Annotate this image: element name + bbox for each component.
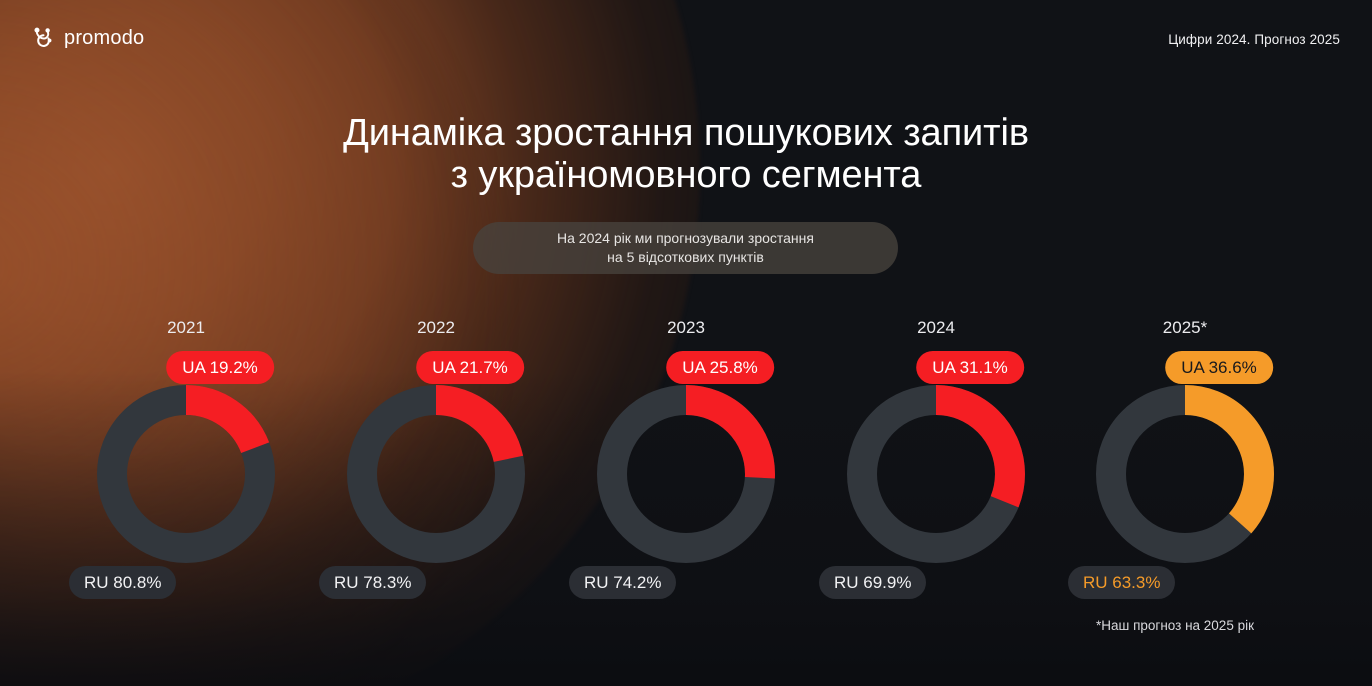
- promodo-mark-icon: [32, 26, 55, 49]
- donut-chart-1: 2021UA 19.2%RU 80.8%: [61, 318, 311, 618]
- ua-share-pill: UA 36.6%: [1165, 351, 1273, 384]
- ua-share-pill: UA 21.7%: [416, 351, 524, 384]
- donut-chart-row: 2021UA 19.2%RU 80.8%2022UA 21.7%RU 78.3%…: [0, 318, 1372, 618]
- donut-ring: [847, 385, 1025, 563]
- page-title: Динаміка зростання пошукових запитів з у…: [0, 112, 1372, 196]
- donut-chart-4: 2024UA 31.1%RU 69.9%: [811, 318, 1061, 618]
- slide-kicker: Цифри 2024. Прогноз 2025: [1168, 32, 1340, 47]
- subtitle-pill: На 2024 рік ми прогнозували зростання на…: [473, 222, 898, 274]
- donut-year-label: 2024: [811, 318, 1061, 338]
- ru-share-pill: RU 63.3%: [1068, 566, 1175, 599]
- donut-ring: [1096, 385, 1274, 563]
- donut-year-label: 2021: [61, 318, 311, 338]
- slide-canvas: promodo Цифри 2024. Прогноз 2025 Динамік…: [0, 0, 1372, 686]
- forecast-footnote: *Наш прогноз на 2025 рік: [1096, 618, 1254, 633]
- subtitle-line-2: на 5 відсоткових пунктів: [557, 248, 814, 267]
- donut-chart-5: 2025*UA 36.6%RU 63.3%: [1060, 318, 1310, 618]
- slide-header: promodo Цифри 2024. Прогноз 2025: [0, 0, 1372, 78]
- subtitle-text: На 2024 рік ми прогнозували зростання на…: [557, 229, 814, 267]
- page-title-line-2: з україномовного сегмента: [0, 154, 1372, 196]
- donut-year-label: 2025*: [1060, 318, 1310, 338]
- ru-share-pill: RU 69.9%: [819, 566, 926, 599]
- donut-ring: [597, 385, 775, 563]
- donut-year-label: 2023: [561, 318, 811, 338]
- ua-share-pill: UA 31.1%: [916, 351, 1024, 384]
- donut-chart-2: 2022UA 21.7%RU 78.3%: [311, 318, 561, 618]
- ru-share-pill: RU 80.8%: [69, 566, 176, 599]
- donut-ring: [97, 385, 275, 563]
- ua-share-pill: UA 19.2%: [166, 351, 274, 384]
- subtitle-line-1: На 2024 рік ми прогнозували зростання: [557, 230, 814, 246]
- ua-share-pill: UA 25.8%: [666, 351, 774, 384]
- donut-chart-3: 2023UA 25.8%RU 74.2%: [561, 318, 811, 618]
- donut-year-label: 2022: [311, 318, 561, 338]
- promodo-logo-text: promodo: [64, 28, 144, 48]
- page-title-line-1: Динаміка зростання пошукових запитів: [343, 112, 1029, 154]
- ru-share-pill: RU 74.2%: [569, 566, 676, 599]
- promodo-logo[interactable]: promodo: [32, 26, 144, 49]
- donut-ring: [347, 385, 525, 563]
- ru-share-pill: RU 78.3%: [319, 566, 426, 599]
